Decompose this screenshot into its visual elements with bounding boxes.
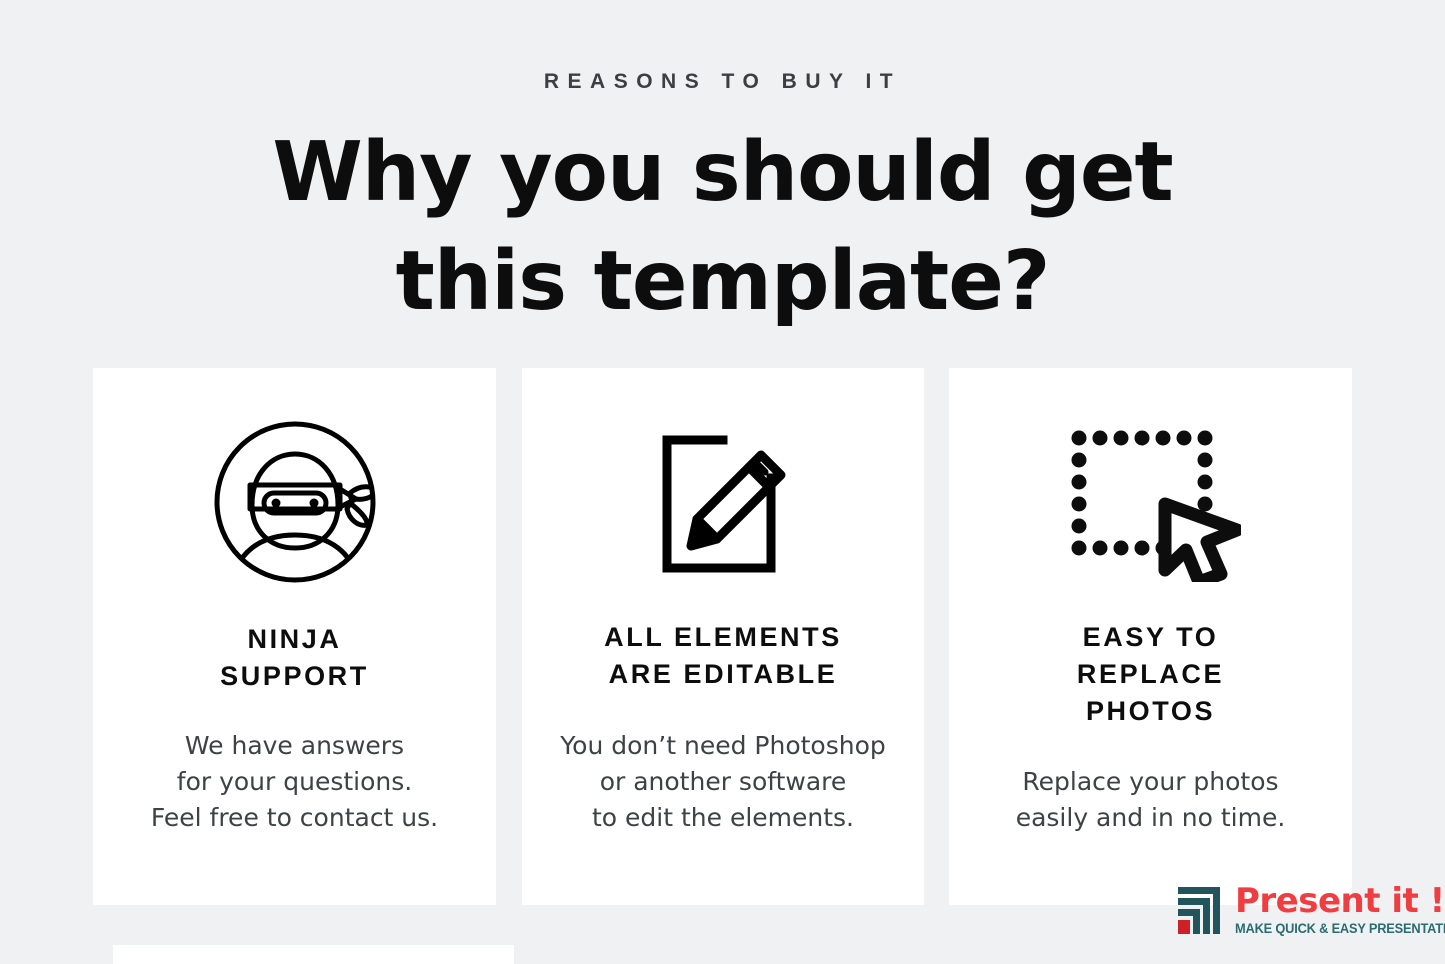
brand-logo[interactable]: Present it ! MAKE QUICK & EASY PRESENTAT… (1176, 884, 1426, 942)
feature-card-body-line-2: easily and in no time. (949, 800, 1352, 836)
next-row-card-partial (113, 945, 514, 964)
feature-card-title: NINJA SUPPORT (93, 621, 496, 695)
ninja-face-icon-svg (210, 417, 380, 587)
page-title-line-2: this template? (0, 227, 1445, 336)
feature-card-ninja-support[interactable]: NINJA SUPPORT We have answers for your q… (93, 368, 496, 905)
feature-card-body-line-1: You don’t need Photoshop (522, 728, 924, 764)
feature-card-title-line-1: ALL ELEMENTS (522, 619, 924, 656)
feature-card-title: EASY TO REPLACE PHOTOS (949, 619, 1352, 730)
document-pencil-edit-icon-svg (653, 422, 793, 582)
eyebrow-label: REASONS TO BUY IT (0, 70, 1445, 94)
feature-card-all-elements-editable[interactable]: ALL ELEMENTS ARE EDITABLE You don’t need… (522, 368, 924, 905)
feature-card-title: ALL ELEMENTS ARE EDITABLE (522, 619, 924, 693)
feature-card-body-line-2: or another software (522, 764, 924, 800)
feature-card-title-line-3: PHOTOS (949, 693, 1352, 730)
feature-card-title-line-1: EASY TO (949, 619, 1352, 656)
feature-card-easy-replace-photos[interactable]: EASY TO REPLACE PHOTOS Replace your phot… (949, 368, 1352, 905)
feature-card-body: We have answers for your questions. Feel… (93, 728, 496, 836)
dotted-selection-cursor-icon-svg (1061, 422, 1241, 582)
feature-card-title-line-2: ARE EDITABLE (522, 656, 924, 693)
feature-card-title-line-1: NINJA (93, 621, 496, 658)
feature-card-body: Replace your photos easily and in no tim… (949, 764, 1352, 836)
page-title: Why you should get this template? (0, 118, 1445, 336)
brand-logo-text: Present it ! MAKE QUICK & EASY PRESENTAT… (1235, 884, 1445, 937)
feature-card-body-line-3: Feel free to contact us. (93, 800, 496, 836)
slide-canvas: REASONS TO BUY IT Why you should get thi… (0, 0, 1445, 964)
feature-card-body-line-1: Replace your photos (949, 764, 1352, 800)
present-it-logo-mark-icon (1176, 884, 1228, 936)
ninja-face-icon (93, 414, 496, 589)
feature-card-body-line-3: to edit the elements. (522, 800, 924, 836)
feature-card-body-line-1: We have answers (93, 728, 496, 764)
feature-card-title-line-2: SUPPORT (93, 658, 496, 695)
page-title-line-1: Why you should get (0, 118, 1445, 227)
dotted-selection-cursor-icon (949, 414, 1352, 589)
brand-logo-subtitle: MAKE QUICK & EASY PRESENTATIONS (1235, 921, 1445, 937)
feature-card-body-line-2: for your questions. (93, 764, 496, 800)
brand-logo-title: Present it ! (1235, 884, 1445, 919)
feature-card-title-line-2: REPLACE (949, 656, 1352, 693)
document-pencil-edit-icon (522, 414, 924, 589)
feature-card-body: You don’t need Photoshop or another soft… (522, 728, 924, 836)
